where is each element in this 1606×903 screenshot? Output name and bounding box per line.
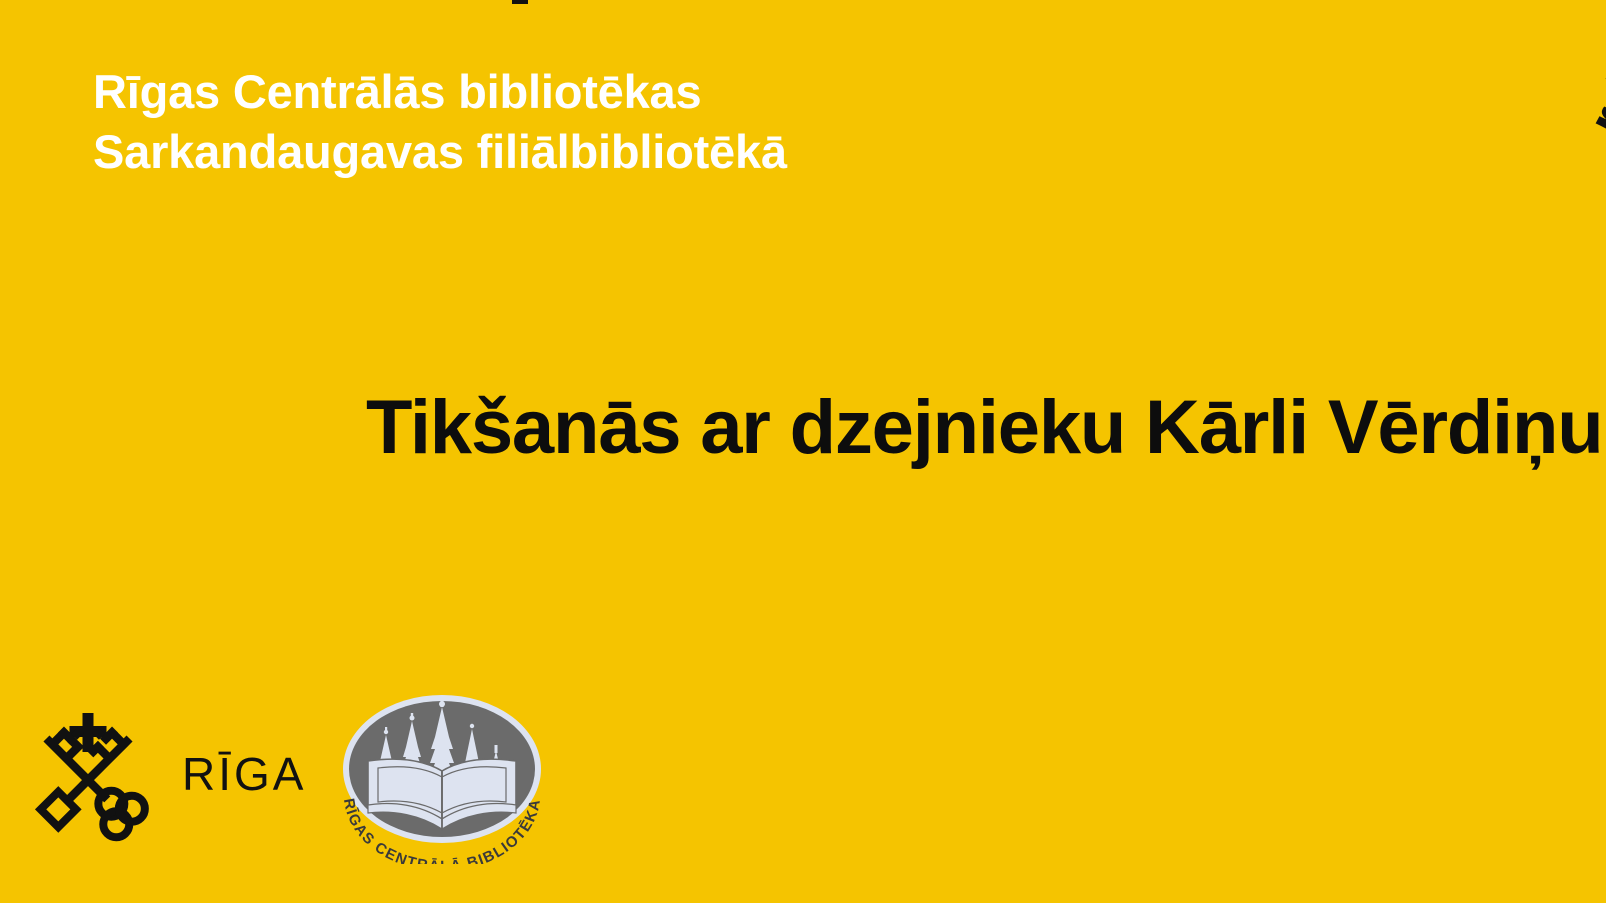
riga-city-logo: RĪGA [14,705,304,855]
organiser-line-1: Rīgas Centrālās bibliotēkas [93,62,1193,122]
poster-canvas: rdiņu Rīgas Centrālās bibliotēkas Sarkan… [0,0,1606,903]
clipped-glyph-remnant [512,0,528,4]
library-emblem-icon: RĪGAS CENTRĀLĀ BIBLIOTĒKA [330,689,554,864]
logo-strip: RĪGA [0,683,1606,903]
organiser-block: Rīgas Centrālās bibliotēkas Sarkandaugav… [93,62,1193,181]
event-title: Tikšanās ar dzejnieku Kārli Vērdiņu [366,386,1602,470]
corner-rotated-word: rdiņu [1578,0,1606,148]
crossed-keys-icon [14,705,162,853]
organiser-line-2: Sarkandaugavas filiālbibliotēkā [93,122,1193,182]
riga-wordmark: RĪGA [182,751,306,797]
library-logo: RĪGAS CENTRĀLĀ BIBLIOTĒKA [330,689,554,864]
